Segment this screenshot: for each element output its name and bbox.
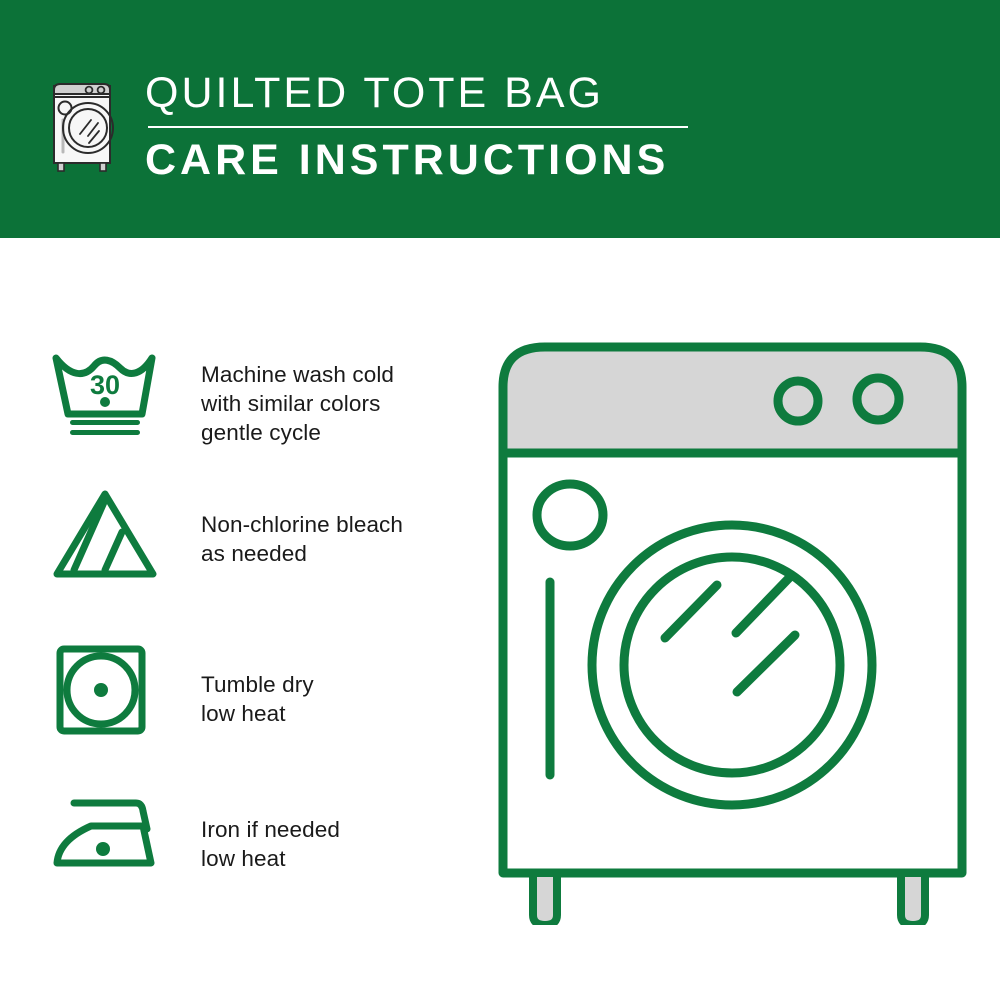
care-text-iron: Iron if needed low heat bbox=[201, 815, 340, 873]
cabinet-body bbox=[503, 453, 962, 873]
front-load-washing-machine-illustration bbox=[495, 335, 970, 925]
page-title-care-instructions: CARE INSTRUCTIONS bbox=[145, 135, 765, 185]
page-title-product: QUILTED TOTE BAG bbox=[145, 68, 765, 118]
washing-machine-icon bbox=[44, 66, 130, 174]
footer-strip bbox=[0, 990, 1000, 1000]
care-text-tumble-dry: Tumble dry low heat bbox=[201, 670, 314, 728]
iron-low-heat-icon bbox=[50, 793, 165, 873]
wash-temperature-label: 30 bbox=[90, 370, 120, 400]
foot-left bbox=[533, 873, 557, 925]
foot-right bbox=[901, 873, 925, 925]
care-instructions-page: QUILTED TOTE BAG CARE INSTRUCTIONS 30 Ma… bbox=[0, 0, 1000, 1000]
control-panel bbox=[503, 347, 962, 453]
bleach-triangle-non-chlorine-icon bbox=[50, 486, 160, 581]
wash-tub-30-gentle-icon: 30 bbox=[50, 346, 160, 441]
title-divider bbox=[148, 126, 688, 128]
care-text-bleach: Non-chlorine bleach as needed bbox=[201, 510, 403, 568]
header-band: QUILTED TOTE BAG CARE INSTRUCTIONS bbox=[0, 0, 1000, 238]
care-text-machine-wash: Machine wash cold with similar colors ge… bbox=[201, 360, 394, 447]
care-instruction-list: 30 Machine wash cold with similar colors… bbox=[0, 238, 500, 1000]
tumble-dry-low-heat-icon bbox=[50, 643, 160, 738]
header-title-group: QUILTED TOTE BAG CARE INSTRUCTIONS bbox=[145, 68, 765, 185]
